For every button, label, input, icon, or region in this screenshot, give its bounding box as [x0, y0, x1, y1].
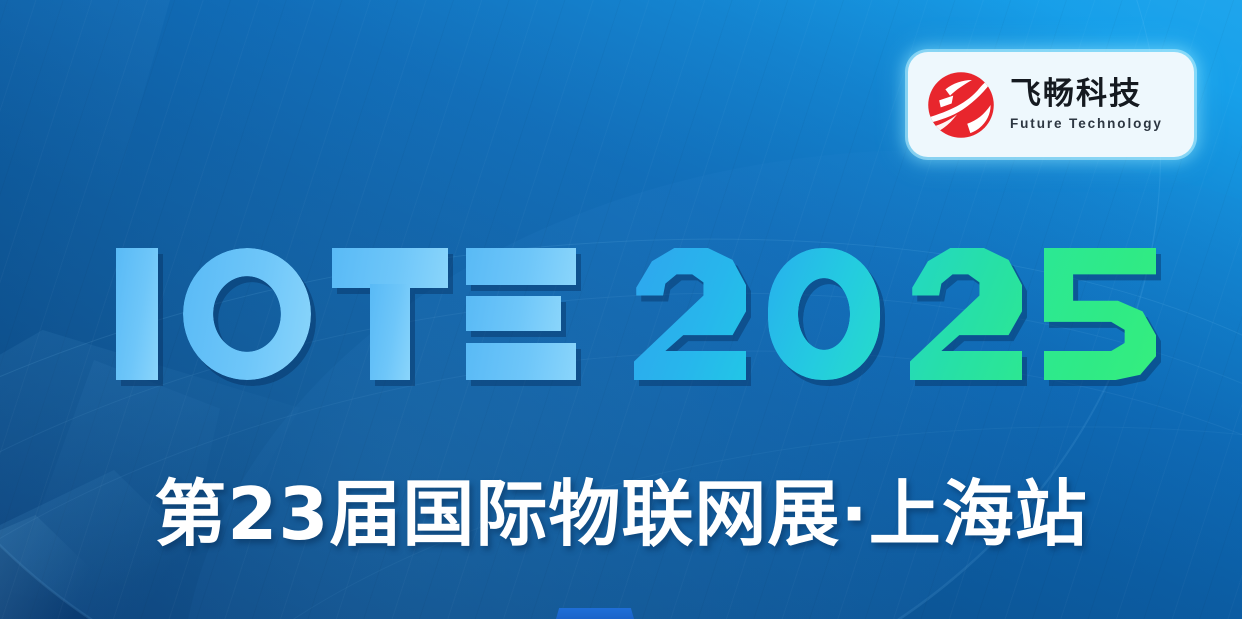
wordmark-letter-E [466, 248, 576, 380]
wordmark-letter-T [332, 248, 448, 380]
company-name-en: Future Technology [1010, 116, 1163, 131]
company-logo-text: 飞畅科技 Future Technology [1010, 78, 1163, 131]
wordmark-digit-2-second [910, 248, 1022, 380]
bottom-center-tab [556, 608, 634, 619]
iote-wordmark [116, 248, 1156, 400]
background-facet-top-left [0, 0, 170, 250]
event-subtitle: 第23届国际物联网展·上海站 [0, 455, 1242, 560]
wordmark-digit-5 [1044, 248, 1156, 380]
iote-2025-banner: 飞畅科技 Future Technology [0, 0, 1242, 619]
feichang-globe-icon [922, 66, 1000, 144]
wordmark-letter-I [116, 248, 158, 380]
company-logo-badge[interactable]: 飞畅科技 Future Technology [908, 52, 1194, 157]
company-name-cn: 飞畅科技 [1010, 78, 1163, 111]
wordmark-digit-0 [768, 248, 880, 380]
wordmark-letter-O [183, 248, 311, 380]
wordmark-digit-2-first [634, 248, 746, 380]
